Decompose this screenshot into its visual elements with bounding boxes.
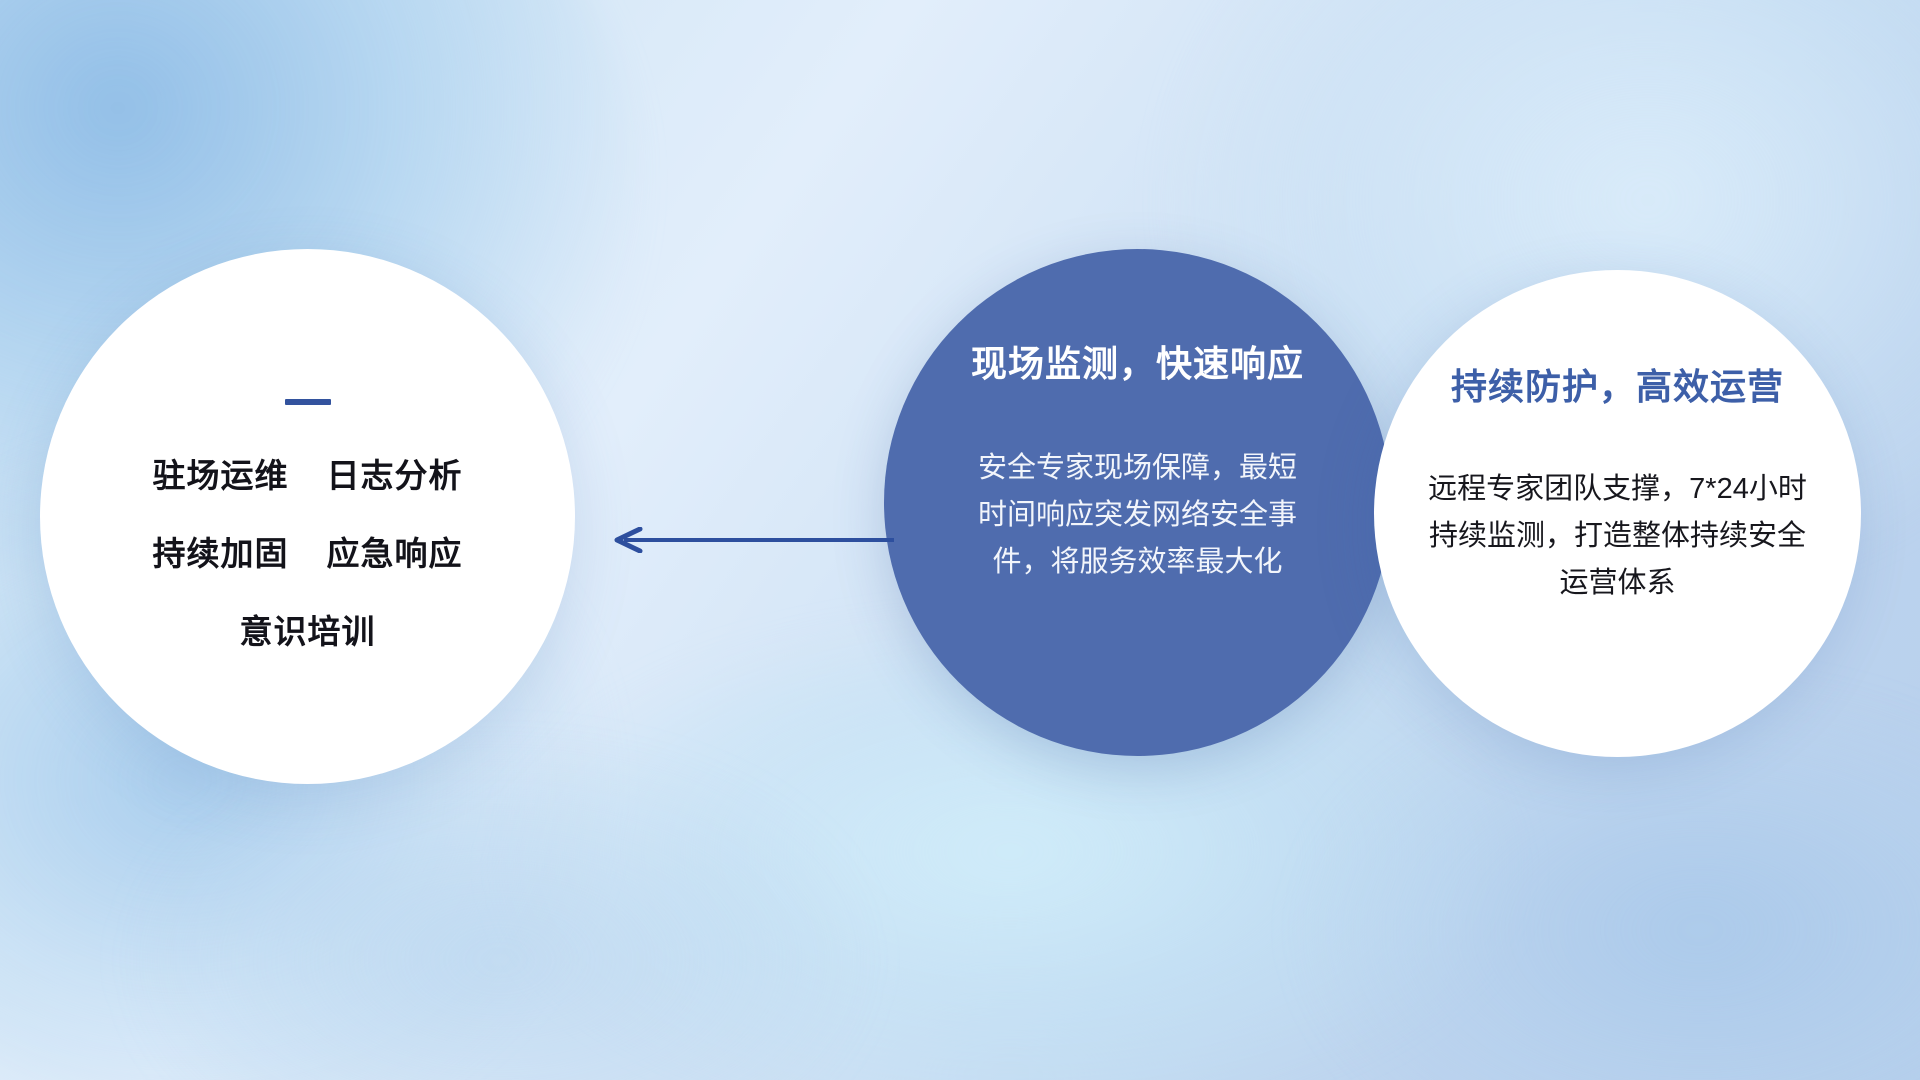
background-blob-bottom-right [1320, 700, 1920, 1080]
capability-row: 意识培训 [40, 605, 575, 653]
background-blob-bottom-left [150, 760, 850, 1080]
capability-row: 持续加固 应急响应 [40, 527, 575, 575]
card-title: 持续防护，高效运营 [1451, 358, 1784, 410]
card-title: 现场监测，快速响应 [971, 335, 1304, 387]
capability-tag: 日志分析 [327, 449, 463, 497]
slide-canvas: 驻场运维 日志分析 持续加固 应急响应 意识培训 现场监测，快速响应 安全专家现… [0, 0, 1920, 1080]
capability-tag: 应急响应 [327, 527, 463, 575]
arrow-left-icon [602, 527, 894, 553]
capability-list: 驻场运维 日志分析 持续加固 应急响应 意识培训 [40, 399, 575, 683]
onsite-monitoring-card: 现场监测，快速响应 安全专家现场保障，最短时间响应突发网络安全事件，将服务效率最… [884, 249, 1391, 756]
continuous-protection-card: 持续防护，高效运营 远程专家团队支撑，7*24小时持续监测，打造整体持续安全运营… [1374, 270, 1861, 757]
card-body-text: 安全专家现场保障，最短时间响应突发网络安全事件，将服务效率最大化 [973, 445, 1303, 586]
capability-row: 驻场运维 日志分析 [40, 449, 575, 497]
card-body-text: 远程专家团队支撑，7*24小时持续监测，打造整体持续安全运营体系 [1418, 466, 1818, 607]
capability-tag: 意识培训 [240, 605, 376, 653]
capability-tag: 驻场运维 [153, 449, 289, 497]
service-capability-card: 驻场运维 日志分析 持续加固 应急响应 意识培训 [40, 249, 575, 784]
capability-tag: 持续加固 [153, 527, 289, 575]
accent-divider-icon [285, 399, 331, 405]
